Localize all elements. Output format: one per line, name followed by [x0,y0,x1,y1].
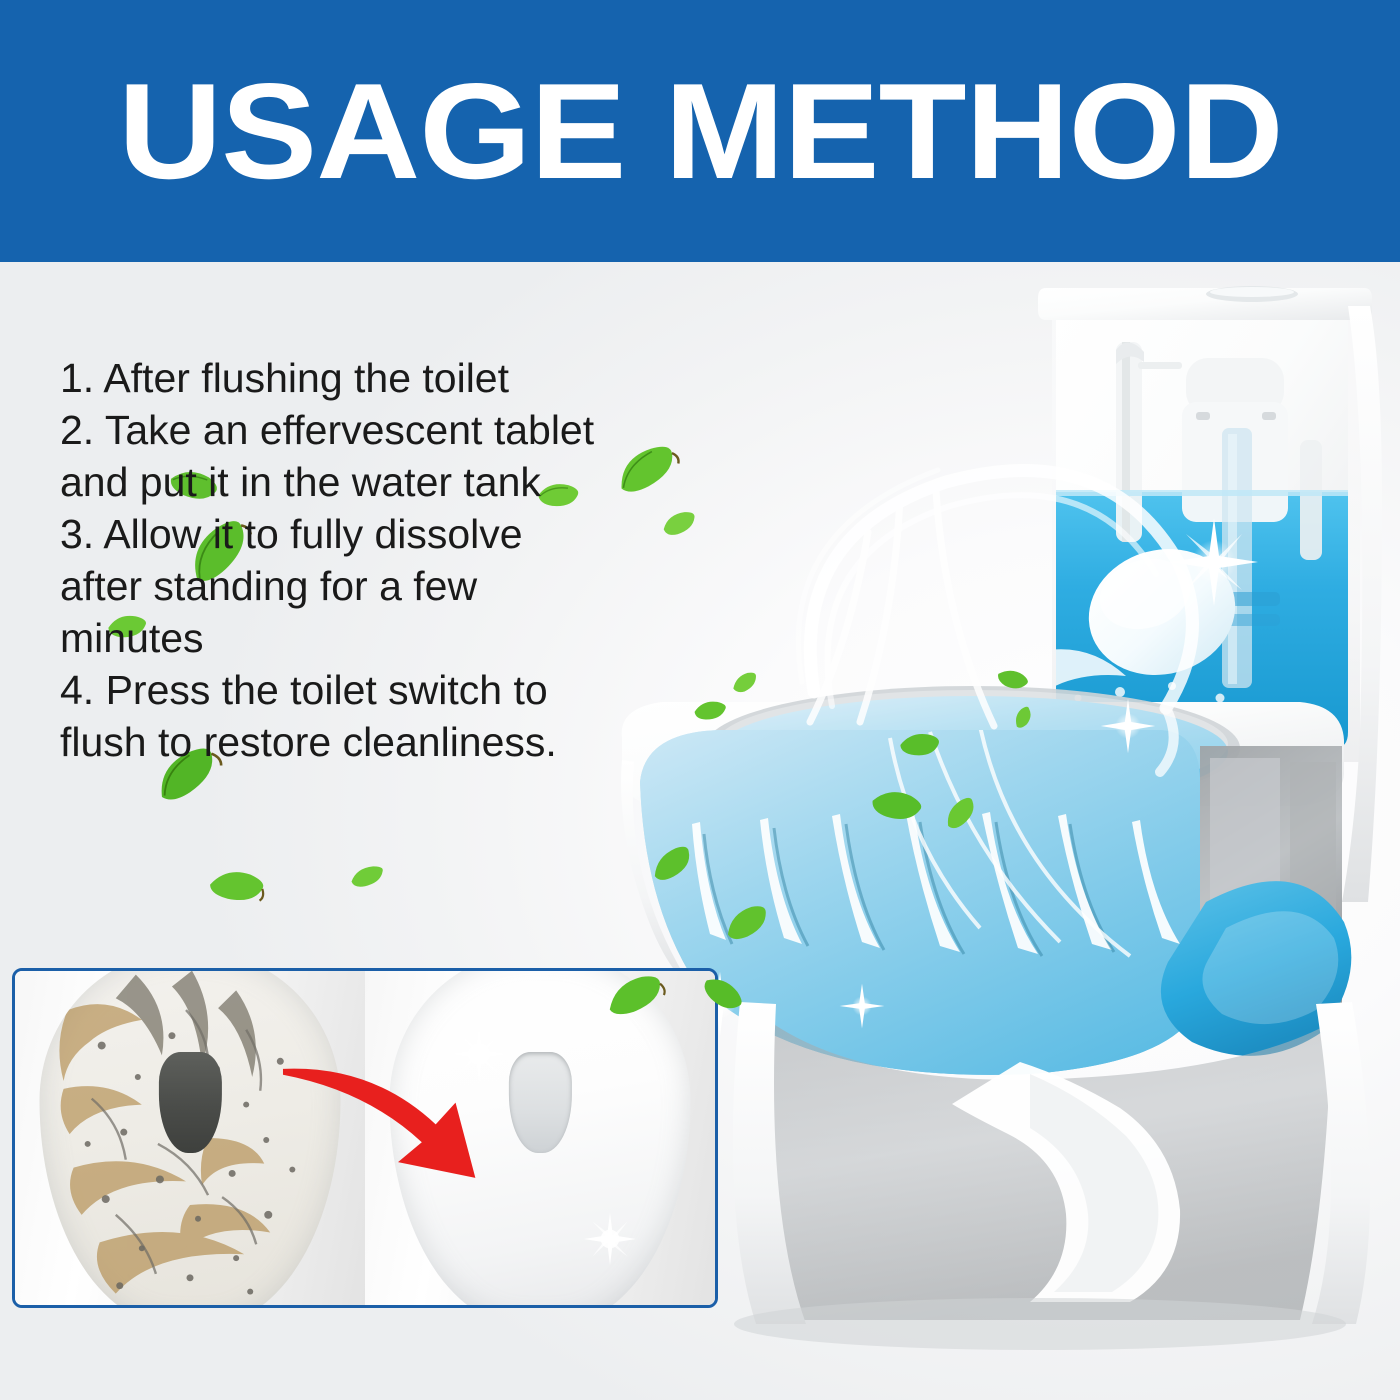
leaf-icon [204,860,270,912]
instruction-line: 4. Press the toilet switch to [60,664,680,716]
instruction-line: 1. After flushing the toilet [60,352,680,404]
page-title: USAGE METHOD [118,63,1283,199]
leaf-icon [347,862,387,890]
tank-lid [1038,288,1372,320]
header-banner: USAGE METHOD [0,0,1400,262]
instruction-line: 3. Allow it to fully dissolve [60,508,680,560]
instruction-line: 2. Take an effervescent tablet [60,404,680,456]
instruction-line: and put it in the water tank [60,456,680,508]
before-after-arrow [281,1051,519,1205]
instruction-line: minutes [60,612,680,664]
infographic-page: USAGE METHOD [0,0,1400,1400]
dirty-drain [158,1052,221,1153]
instruction-line: flush to restore cleanliness. [60,716,680,768]
toilet-illustration [600,262,1400,1400]
instruction-line: after standing for a few [60,560,680,612]
before-after-panel [12,968,718,1308]
instructions-block: 1. After flushing the toilet 2. Take an … [60,352,680,768]
